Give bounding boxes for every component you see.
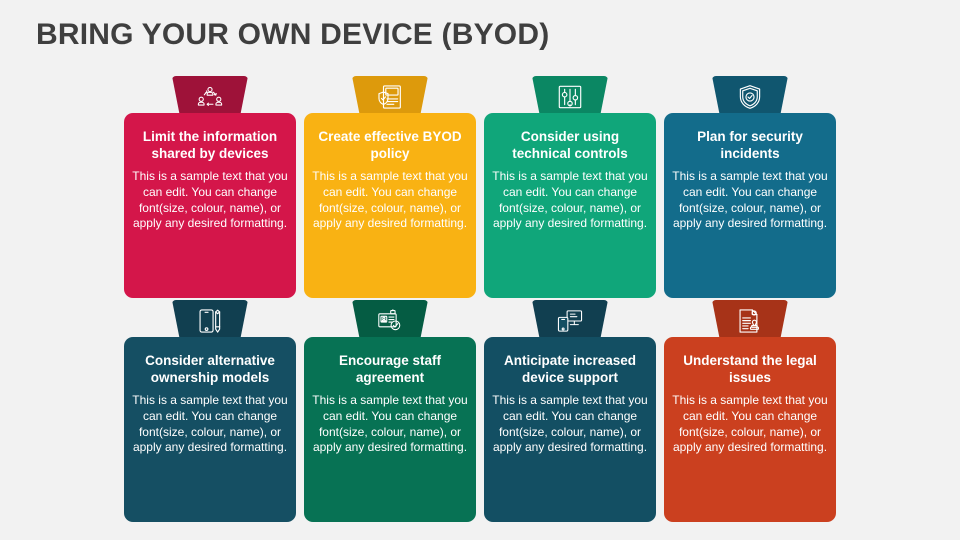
- slide-canvas: BRING YOUR OWN DEVICE (BYOD) Limit the i…: [0, 0, 960, 540]
- card-body: Consider using technical controlsThis is…: [484, 113, 656, 298]
- byod-card[interactable]: Limit the information shared by devicesT…: [124, 76, 296, 298]
- card-description: This is a sample text that you can edit.…: [671, 393, 829, 455]
- card-body: Limit the information shared by devicesT…: [124, 113, 296, 298]
- card-body: Understand the legal issuesThis is a sam…: [664, 337, 836, 522]
- card-description: This is a sample text that you can edit.…: [131, 393, 289, 455]
- phone-stylus-icon: [197, 308, 223, 334]
- card-description: This is a sample text that you can edit.…: [311, 169, 469, 231]
- byod-card[interactable]: Create effective BYOD policyThis is a sa…: [304, 76, 476, 298]
- sliders-controls-icon: [557, 84, 583, 110]
- byod-card[interactable]: Understand the legal issuesThis is a sam…: [664, 300, 836, 522]
- byod-card[interactable]: Consider using technical controlsThis is…: [484, 76, 656, 298]
- card-body: Encourage staff agreementThis is a sampl…: [304, 337, 476, 522]
- card-body: Create effective BYOD policyThis is a sa…: [304, 113, 476, 298]
- card-description: This is a sample text that you can edit.…: [491, 393, 649, 455]
- card-title: Create effective BYOD policy: [312, 129, 468, 162]
- card-description: This is a sample text that you can edit.…: [491, 169, 649, 231]
- byod-card[interactable]: Plan for security incidentsThis is a sam…: [664, 76, 836, 298]
- card-title: Encourage staff agreement: [312, 353, 468, 386]
- card-body: Anticipate increased device supportThis …: [484, 337, 656, 522]
- document-shield-icon: [377, 84, 403, 110]
- card-title: Limit the information shared by devices: [132, 129, 288, 162]
- byod-card[interactable]: Anticipate increased device supportThis …: [484, 300, 656, 522]
- people-sharing-icon: [197, 84, 223, 110]
- legal-document-stamp-icon: [737, 308, 763, 334]
- card-body: Consider alternative ownership modelsThi…: [124, 337, 296, 522]
- card-description: This is a sample text that you can edit.…: [311, 393, 469, 455]
- card-body: Plan for security incidentsThis is a sam…: [664, 113, 836, 298]
- page-title: BRING YOUR OWN DEVICE (BYOD): [36, 18, 549, 52]
- card-title: Understand the legal issues: [672, 353, 828, 386]
- card-title: Consider alternative ownership models: [132, 353, 288, 386]
- card-title: Plan for security incidents: [672, 129, 828, 162]
- shield-check-icon: [737, 84, 763, 110]
- card-description: This is a sample text that you can edit.…: [671, 169, 829, 231]
- byod-cards-grid: Limit the information shared by devicesT…: [124, 76, 836, 524]
- card-title: Consider using technical controls: [492, 129, 648, 162]
- id-card-check-icon: [377, 308, 403, 334]
- devices-support-icon: [557, 308, 583, 334]
- card-description: This is a sample text that you can edit.…: [131, 169, 289, 231]
- byod-card[interactable]: Consider alternative ownership modelsThi…: [124, 300, 296, 522]
- byod-card[interactable]: Encourage staff agreementThis is a sampl…: [304, 300, 476, 522]
- card-title: Anticipate increased device support: [492, 353, 648, 386]
